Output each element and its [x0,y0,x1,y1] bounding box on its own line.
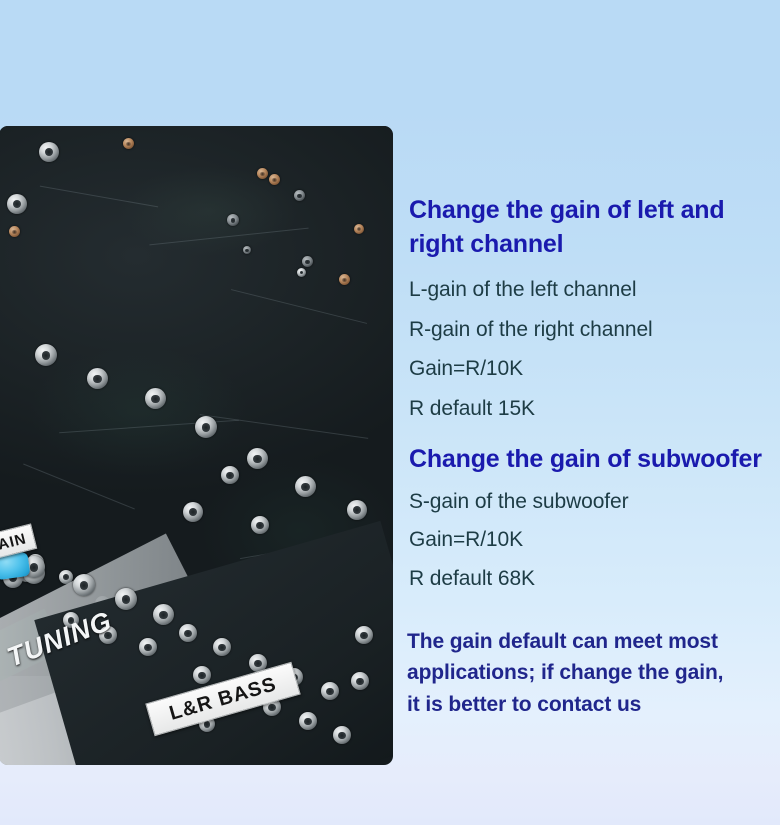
solder-joint [355,626,373,644]
solder-joint [227,214,239,226]
body-line-r-default-15k: R default 15K [409,395,535,423]
page-root: GAIN TUNING L&R BASS Change the gain of … [0,0,780,825]
solder-joint [193,666,211,684]
solder-joint [7,194,27,214]
solder-joint [297,268,306,277]
solder-joint [243,246,251,254]
solder-joint [299,712,317,730]
solder-joint [251,516,269,534]
solder-joint [347,500,367,520]
body-line-subwoofer-gain-formula: Gain=R/10K [409,526,523,554]
solder-joint [257,168,268,179]
heading-left-right-channel: Change the gain of left and right channe… [409,193,780,261]
body-line-gain-formula: Gain=R/10K [409,355,523,383]
solder-joint [139,638,157,656]
solder-joint [115,588,137,610]
note-line-3: it is better to contact us [407,690,641,720]
solder-joint [333,726,351,744]
solder-joint [9,226,20,237]
solder-joint [295,476,316,497]
pcb-photo: GAIN TUNING L&R BASS [0,126,393,765]
note-line-1: The gain default can meet most [407,627,718,657]
solder-joint [145,388,166,409]
solder-joint [247,448,268,469]
solder-joint [302,256,313,267]
body-line-r-default-68k: R default 68K [409,565,535,593]
solder-joint [39,142,59,162]
solder-joint [269,174,280,185]
solder-joint [153,604,174,625]
heading-subwoofer: Change the gain of subwoofer [409,442,762,476]
solder-joint [35,344,57,366]
note-line-2: applications; if change the gain, [407,658,723,688]
solder-joint [213,638,231,656]
solder-joint [221,466,239,484]
solder-joint [123,138,134,149]
instruction-text-panel: Change the gain of left and right channe… [405,0,780,825]
solder-joint [195,416,217,438]
solder-joint [73,574,95,596]
solder-joint [354,224,364,234]
body-line-l-gain: L-gain of the left channel [409,276,636,304]
solder-joint [321,682,339,700]
solder-joint [339,274,350,285]
solder-joint [87,368,108,389]
solder-joint [179,624,197,642]
solder-joint [294,190,305,201]
solder-joint [351,672,369,690]
body-line-s-gain: S-gain of the subwoofer [409,488,629,516]
solder-joint [183,502,203,522]
body-line-r-gain: R-gain of the right channel [409,316,653,344]
